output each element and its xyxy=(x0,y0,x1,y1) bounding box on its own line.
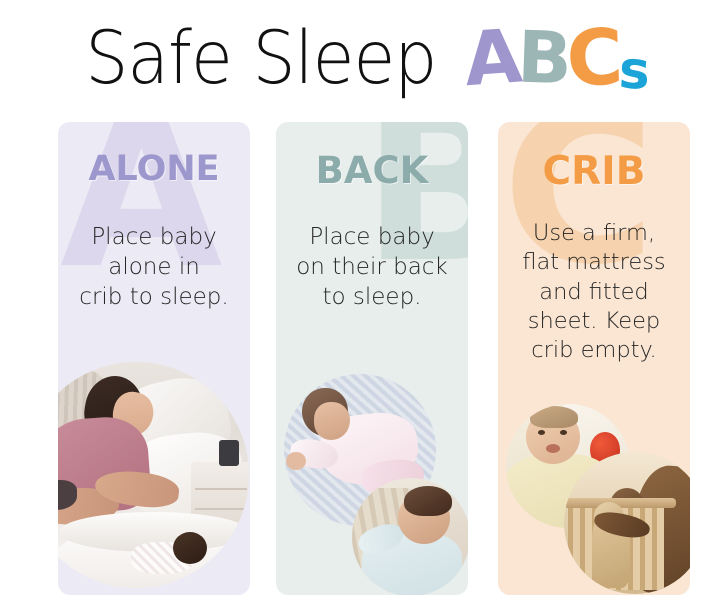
column-alone-text: Place baby alone in crib to sleep. xyxy=(58,223,250,313)
mother-with-baby-in-bassinet-photo xyxy=(58,362,249,588)
adult-placing-toddler-in-crib-photo xyxy=(564,452,690,594)
column-crib: C CRIB Use a firm, flat mattress and fit… xyxy=(498,122,690,595)
baby-head-shape xyxy=(173,532,207,564)
page-title: Safe Sleep ABCs xyxy=(0,8,720,108)
column-back-content: BACK Place baby on their back to sleep. xyxy=(276,122,468,313)
column-crib-text: Use a firm, flat mattress and fitted she… xyxy=(498,219,690,365)
baby-eye-shape xyxy=(560,430,567,435)
baby-mouth-shape xyxy=(546,444,560,453)
photo-content xyxy=(58,362,249,588)
page-title-text: Safe Sleep xyxy=(85,22,436,95)
column-back-text: Place baby on their back to sleep. xyxy=(276,223,468,313)
baby-hair-shape xyxy=(404,486,452,516)
abc-letter-a: A xyxy=(462,19,522,97)
baby-hair-shape xyxy=(530,406,578,428)
column-crib-content: CRIB Use a firm, flat mattress and fitte… xyxy=(498,122,690,365)
baby-hand-shape xyxy=(286,452,306,470)
baby-eye-shape xyxy=(538,430,545,435)
baby-sleeping-on-back-closeup-photo xyxy=(352,478,468,595)
abc-logo: ABCs xyxy=(466,23,648,93)
column-alone-content: ALONE Place baby alone in crib to sleep. xyxy=(58,122,250,313)
column-crib-heading: CRIB xyxy=(498,152,690,191)
column-alone-heading: ALONE xyxy=(58,152,250,187)
abc-letter-b: B xyxy=(516,21,571,94)
column-back-heading: BACK xyxy=(276,152,468,189)
abc-letter-c: C xyxy=(566,19,623,98)
photo-content xyxy=(352,478,468,595)
baby-monitor-shape xyxy=(219,440,239,466)
abc-letter-s: s xyxy=(617,44,649,97)
column-alone: A ALONE Place baby alone in crib to slee… xyxy=(58,122,250,595)
photo-content xyxy=(564,452,690,594)
abc-columns: A ALONE Place baby alone in crib to slee… xyxy=(0,122,720,597)
column-back: B BACK Place baby on their back to sleep… xyxy=(276,122,468,595)
